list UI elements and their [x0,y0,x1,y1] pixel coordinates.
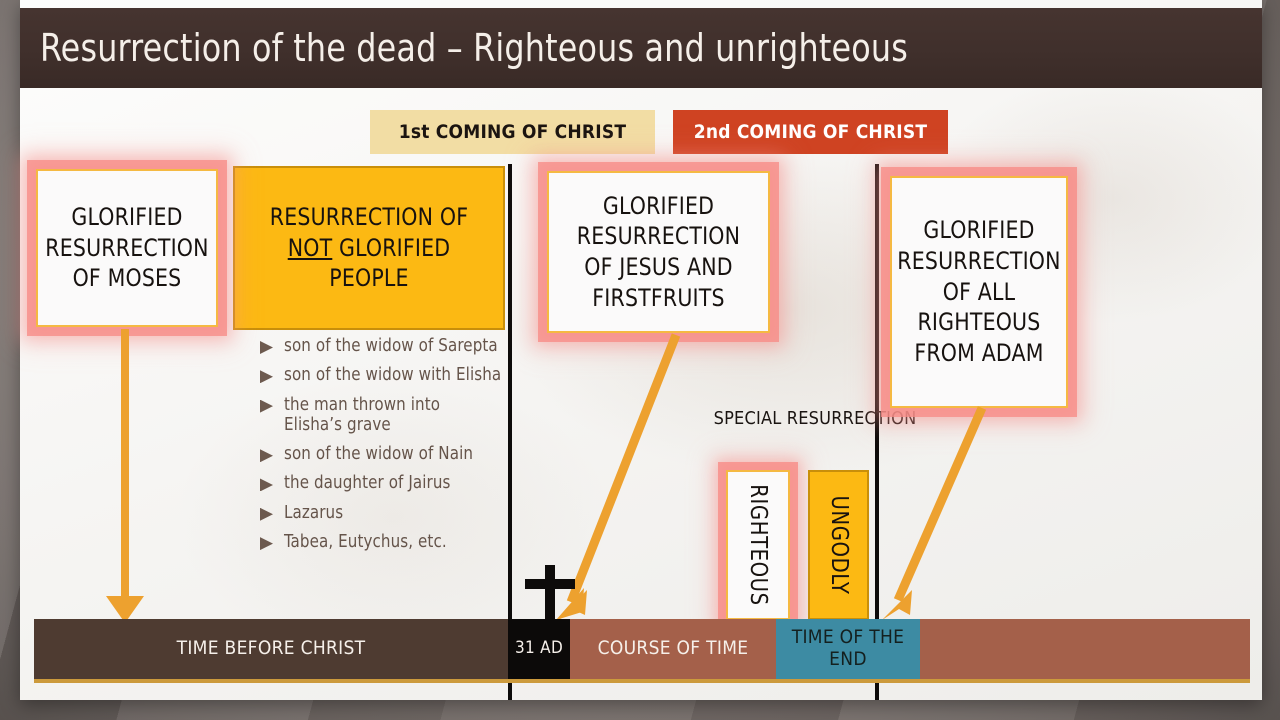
slide-title-bar: Resurrection of the dead – Righteous and… [20,8,1262,88]
list-item: Tabea, Eutychus, etc. [242,532,512,552]
triangle-bullet-icon [260,449,273,462]
pillar-righteous[interactable]: RIGHTEOUS [726,470,790,620]
list-item: son of the widow of Sarepta [242,336,512,356]
down-arrow-icon [106,329,144,623]
card-resurrection-of-not-glorified-people[interactable]: RESURRECTION OF NOT GLORIFIED PEOPLE [233,166,505,330]
special-resurrection-caption: SPECIAL RESURRECTION [710,408,920,431]
resurrection-examples-list: son of the widow of Sarepta son of the w… [242,336,512,561]
list-item-label: Lazarus [284,503,503,523]
list-item-label: Tabea, Eutychus, etc. [284,532,503,552]
era-banner-second-coming-label: 2nd COMING OF CHRIST [694,121,927,143]
timeline-segment-before-christ-label: TIME BEFORE CHRIST [177,638,366,660]
pillar-righteous-label: RIGHTEOUS [745,484,771,605]
timeline-bar: TIME BEFORE CHRIST 31 AD COURSE OF TIME … [34,619,1250,683]
slide-stage: Resurrection of the dead – Righteous and… [0,0,1280,720]
era-banner-first-coming: 1st COMING OF CHRIST [370,110,655,154]
list-item-label: son of the widow with Elisha [284,365,503,385]
list-item-label: son of the widow of Sarepta [284,336,503,356]
triangle-bullet-icon [260,537,273,550]
card-glorified-resurrection-of-jesus-and-firstfruits[interactable]: GLORIFIED RESURRECTION OF JESUS AND FIRS… [547,171,770,333]
slide-canvas: 1st COMING OF CHRIST 2nd COMING OF CHRIS… [20,88,1262,700]
timeline-segment-course-of-time-label: COURSE OF TIME [598,638,749,660]
timeline-marker-31-ad-label: 31 AD [515,639,563,659]
timeline-segment-time-of-the-end-label: TIME OF THE END [776,627,920,671]
timeline-segment-after-second-coming[interactable] [920,619,1250,679]
pillar-ungodly-label: UNGODLY [826,496,852,595]
diagonal-arrow-icon [882,408,982,620]
triangle-bullet-icon [260,508,273,521]
triangle-bullet-icon [260,400,273,413]
card-not-glorified-label: RESURRECTION OF NOT GLORIFIED PEOPLE [242,198,497,298]
timeline-segment-before-christ[interactable]: TIME BEFORE CHRIST [34,619,508,679]
era-banner-first-coming-label: 1st COMING OF CHRIST [399,121,626,143]
era-banner-second-coming: 2nd COMING OF CHRIST [673,110,948,154]
list-item-label: the man thrown into Elisha’s grave [284,395,503,436]
list-item-label: the daughter of Jairus [284,473,503,493]
card-jesus-label: GLORIFIED RESURRECTION OF JESUS AND FIRS… [554,187,762,318]
cross-horizontal-bar [525,579,575,589]
page-title: Resurrection of the dead – Righteous and… [40,26,908,70]
list-item: son of the widow of Nain [242,444,512,464]
timeline-marker-31-ad[interactable]: 31 AD [508,619,570,679]
card-adam-label: GLORIFIED RESURRECTION OF ALL RIGHTEOUS … [888,211,1070,373]
list-item-label: son of the widow of Nain [284,444,503,464]
list-item: Lazarus [242,503,512,523]
timeline-segment-time-of-the-end[interactable]: TIME OF THE END [776,619,920,679]
pillar-ungodly[interactable]: UNGODLY [808,470,869,620]
presentation-slide: Resurrection of the dead – Righteous and… [20,0,1262,700]
triangle-bullet-icon [260,341,273,354]
card-glorified-resurrection-of-all-righteous-from-adam[interactable]: GLORIFIED RESURRECTION OF ALL RIGHTEOUS … [890,176,1068,408]
card-moses-label: GLORIFIED RESURRECTION OF MOSES [36,198,218,298]
card-glorified-resurrection-of-moses[interactable]: GLORIFIED RESURRECTION OF MOSES [36,169,218,327]
list-item: the daughter of Jairus [242,473,512,493]
list-item: the man thrown into Elisha’s grave [242,395,512,436]
list-item: son of the widow with Elisha [242,365,512,385]
triangle-bullet-icon [260,370,273,383]
triangle-bullet-icon [260,478,273,491]
timeline-segment-course-of-time[interactable]: COURSE OF TIME [570,619,776,679]
